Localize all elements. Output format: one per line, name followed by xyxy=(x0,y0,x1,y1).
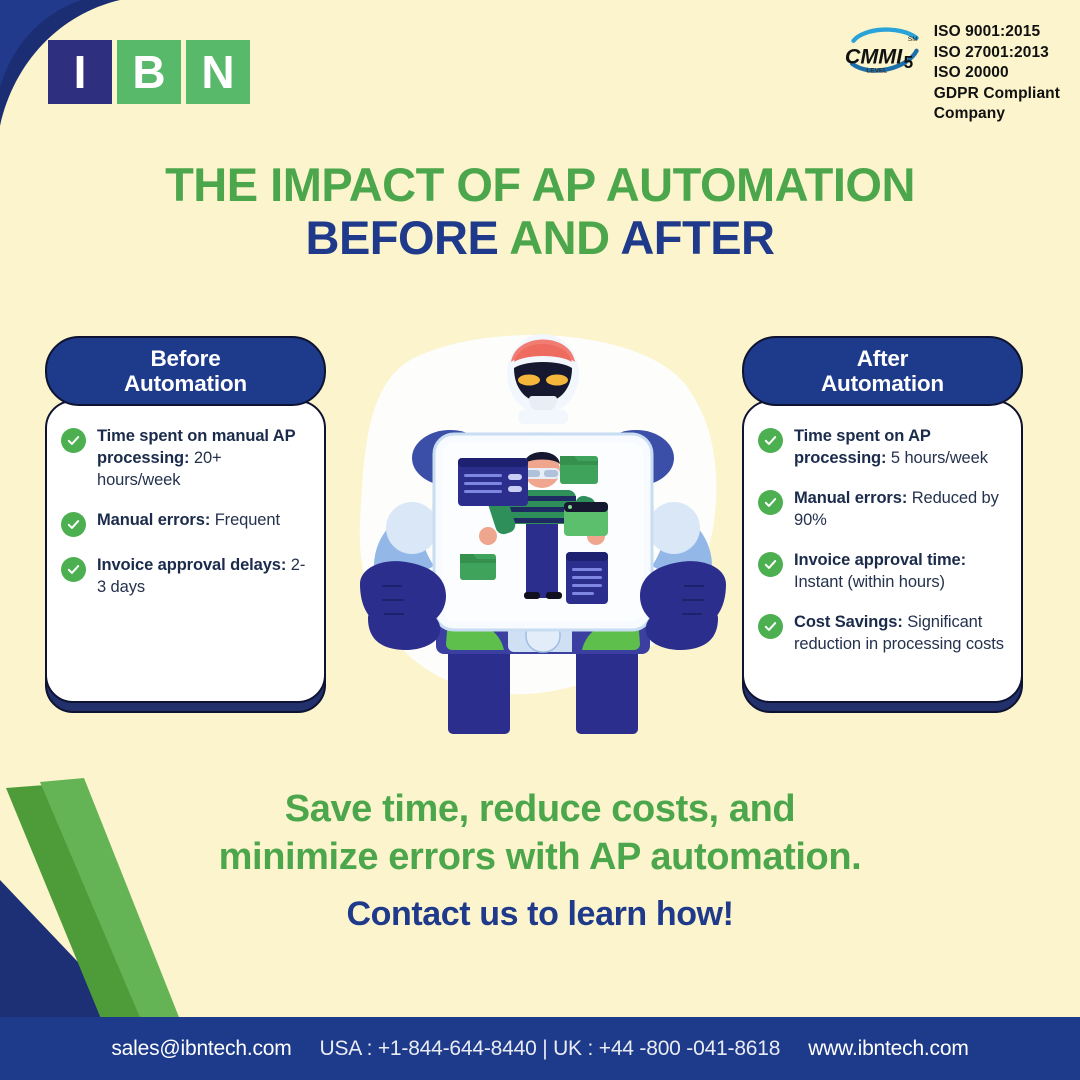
bullet-text: Time spent on AP processing: 5 hours/wee… xyxy=(794,426,1005,470)
svg-text:CMMI: CMMI xyxy=(845,45,903,69)
card-before-automation: Before Automation Time spent on manual A… xyxy=(45,336,326,703)
tagline-block: Save time, reduce costs, and minimize er… xyxy=(0,786,1080,934)
title-and-word: AND xyxy=(509,211,609,264)
infographic-canvas: I B N CMMI 5 LEVEL SM ISO 9001:2015 ISO … xyxy=(0,0,1080,1080)
card-after-body: Time spent on AP processing: 5 hours/wee… xyxy=(742,400,1023,703)
list-item: Invoice approval delays: 2-3 days xyxy=(61,555,308,599)
footer-website[interactable]: www.ibntech.com xyxy=(808,1037,968,1061)
logo-tile-n: N xyxy=(186,40,250,104)
card-after-header: After Automation xyxy=(742,336,1023,406)
bullet-label: Invoice approval delays: xyxy=(97,556,286,574)
tagline-cta: Contact us to learn how! xyxy=(0,895,1080,934)
title-after-word: AFTER xyxy=(620,211,774,264)
bullet-label: Cost Savings: xyxy=(794,613,903,631)
footer-email[interactable]: sales@ibntech.com xyxy=(111,1037,291,1061)
check-circle-icon xyxy=(61,512,86,537)
cert-line-iso27001: ISO 27001:2013 xyxy=(934,43,1060,64)
page-title: THE IMPACT OF AP AUTOMATION BEFORE AND A… xyxy=(0,160,1080,268)
card-before-heading-line1: Before xyxy=(150,346,220,371)
robot-holding-tablet-illustration xyxy=(348,318,738,738)
card-before-header: Before Automation xyxy=(45,336,326,406)
tagline-green-line-2: minimize errors with AP automation. xyxy=(0,834,1080,882)
check-circle-icon xyxy=(758,490,783,515)
cmmi-level5-badge-icon: CMMI 5 LEVEL SM xyxy=(842,22,928,94)
list-item: Time spent on AP processing: 5 hours/wee… xyxy=(758,426,1005,470)
cert-line-iso20000: ISO 20000 xyxy=(934,63,1060,84)
bullet-label: Invoice approval time: xyxy=(794,551,966,569)
check-circle-icon xyxy=(61,428,86,453)
list-item: Cost Savings: Significant reduction in p… xyxy=(758,612,1005,656)
check-circle-icon xyxy=(61,557,86,582)
check-circle-icon xyxy=(758,428,783,453)
bullet-value: Frequent xyxy=(215,511,280,529)
card-before-heading-line2: Automation xyxy=(124,371,247,396)
title-line-1: THE IMPACT OF AP AUTOMATION xyxy=(0,160,1080,209)
footer-contact-bar: sales@ibntech.com USA : +1-844-644-8440 … xyxy=(0,1017,1080,1080)
card-after-automation: After Automation Time spent on AP proces… xyxy=(742,336,1023,703)
cert-line-company: Company xyxy=(934,104,1060,125)
list-item: Invoice approval time: Instant (within h… xyxy=(758,550,1005,594)
tagline-green-line-1: Save time, reduce costs, and xyxy=(0,786,1080,834)
bullet-value: 5 hours/week xyxy=(891,449,988,467)
bullet-text: Invoice approval time: Instant (within h… xyxy=(794,550,1005,594)
ibn-logo[interactable]: I B N xyxy=(48,40,250,104)
list-item: Manual errors: Frequent xyxy=(61,510,308,537)
check-circle-icon xyxy=(758,614,783,639)
footer-phone-numbers[interactable]: USA : +1-844-644-8440 | UK : +44 -800 -0… xyxy=(320,1037,781,1061)
certification-list: ISO 9001:2015 ISO 27001:2013 ISO 20000 G… xyxy=(934,22,1060,125)
bullet-text: Invoice approval delays: 2-3 days xyxy=(97,555,308,599)
card-after-heading-line1: After xyxy=(857,346,909,371)
title-line-2: BEFORE AND AFTER xyxy=(0,209,1080,268)
cert-line-iso9001: ISO 9001:2015 xyxy=(934,22,1060,43)
logo-tile-i: I xyxy=(48,40,112,104)
svg-text:LEVEL: LEVEL xyxy=(866,67,887,74)
logo-tile-b: B xyxy=(117,40,181,104)
card-after-heading-line2: Automation xyxy=(821,371,944,396)
list-item: Manual errors: Reduced by 90% xyxy=(758,488,1005,532)
list-item: Time spent on manual AP processing: 20+ … xyxy=(61,426,308,492)
title-before-word: BEFORE xyxy=(306,211,499,264)
check-circle-icon xyxy=(758,552,783,577)
cert-line-gdpr: GDPR Compliant xyxy=(934,84,1060,105)
card-before-body: Time spent on manual AP processing: 20+ … xyxy=(45,400,326,703)
bullet-text: Cost Savings: Significant reduction in p… xyxy=(794,612,1005,656)
bullet-label: Manual errors: xyxy=(794,489,907,507)
bullet-text: Manual errors: Reduced by 90% xyxy=(794,488,1005,532)
bullet-text: Time spent on manual AP processing: 20+ … xyxy=(97,426,308,492)
bullet-label: Manual errors: xyxy=(97,511,210,529)
svg-text:SM: SM xyxy=(908,36,918,43)
svg-text:5: 5 xyxy=(903,52,913,72)
bullet-text: Manual errors: Frequent xyxy=(97,510,280,532)
certifications-block: CMMI 5 LEVEL SM ISO 9001:2015 ISO 27001:… xyxy=(842,22,1060,125)
bullet-value: Instant (within hours) xyxy=(794,573,945,591)
